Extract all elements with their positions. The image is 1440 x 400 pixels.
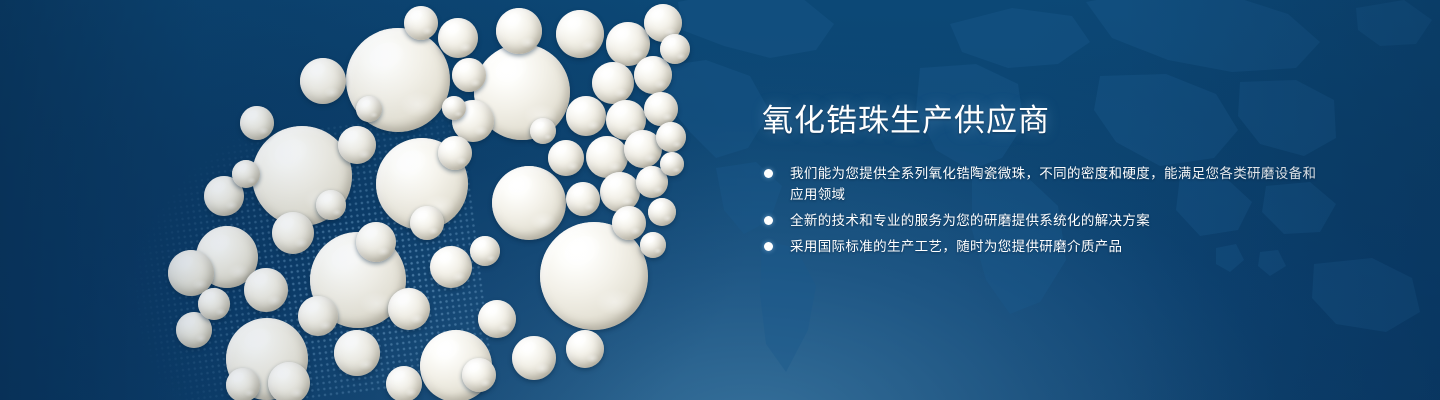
banner-vignette [0, 0, 1440, 400]
hero-banner: 氧化锆珠生产供应商 我们能为您提供全系列氧化锆陶瓷微珠，不同的密度和硬度，能满足… [0, 0, 1440, 400]
